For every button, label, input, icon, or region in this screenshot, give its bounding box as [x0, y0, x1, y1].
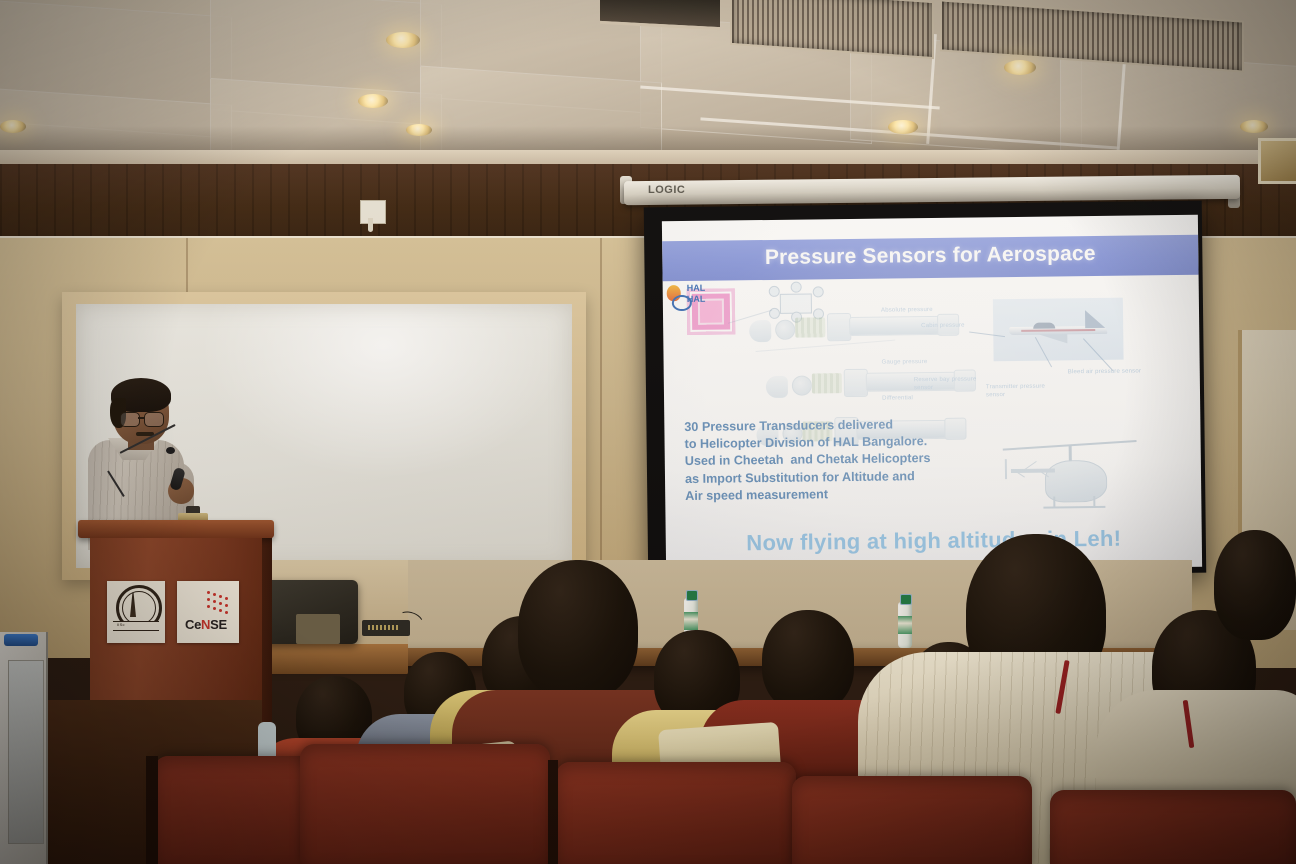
monitor-stand [296, 614, 340, 644]
slide-body-line: Air speed measurement [685, 484, 1015, 505]
audience-head [518, 560, 638, 700]
av-table [258, 644, 408, 674]
podium-top [78, 520, 274, 538]
aircraft-callout-label: Cabin pressure [921, 321, 981, 330]
lecture-hall-photo: LOGIC Pressure Sensors for Aerospace [0, 0, 1296, 864]
audience-head [762, 610, 854, 712]
rack-indicator [4, 634, 38, 646]
auditorium-seat [556, 762, 796, 864]
rack-glass-door[interactable] [8, 660, 44, 844]
presentation-slide: Pressure Sensors for Aerospace [662, 215, 1202, 574]
audience-head-foreground [1214, 530, 1296, 640]
auditorium-seat [300, 744, 550, 864]
figure-label: Absolute pressure [881, 306, 933, 315]
eyeglasses-bridge [138, 417, 144, 419]
projection-screen[interactable]: Pressure Sensors for Aerospace [662, 215, 1202, 574]
slide-body-text: 30 Pressure Transducers delivered to Hel… [684, 415, 1015, 505]
slide-tagline: Now flying at high altitudes in Leh! [666, 525, 1202, 558]
figure-label: Gauge pressure [882, 358, 928, 367]
figure-label: Differential [882, 394, 913, 402]
socket-plug [368, 218, 373, 232]
eyeglasses-icon [120, 412, 140, 427]
auditorium-seat [1050, 790, 1296, 864]
aircraft-callout-label: Bleed air pressure sensor [1068, 367, 1142, 376]
cense-wordmark: CeNSE [185, 617, 227, 632]
ceiling [0, 0, 1296, 165]
cense-dot-matrix-icon: CeNSE [183, 591, 233, 633]
cense-logo-plate: CeNSE [177, 581, 239, 643]
auditorium-seat [792, 776, 1032, 864]
microphone-head-icon [166, 447, 175, 454]
wall-socket[interactable] [360, 200, 386, 224]
helicopter-drawing [1000, 431, 1139, 525]
aircraft-callout-label: Reserve bay pressure sensor [914, 375, 980, 392]
iisc-motto: IISc [117, 622, 125, 627]
fighter-jet-photo [993, 298, 1124, 362]
ceiling-downlight [386, 32, 420, 48]
wall-mounted-frame [1258, 138, 1296, 184]
iisc-logo-plate: IISc [107, 581, 165, 643]
ceiling-downlight [358, 94, 388, 108]
hal-logo: HAL HAL [667, 283, 717, 310]
water-bottle[interactable] [898, 602, 912, 648]
iisc-seal-icon: IISc [113, 585, 159, 629]
ceiling-downlight [1004, 60, 1036, 75]
eyeglasses-icon [144, 412, 164, 427]
screen-brand-label: LOGIC [648, 184, 708, 198]
aircraft-callout-label: Transmitter pressure sensor [986, 382, 1056, 399]
